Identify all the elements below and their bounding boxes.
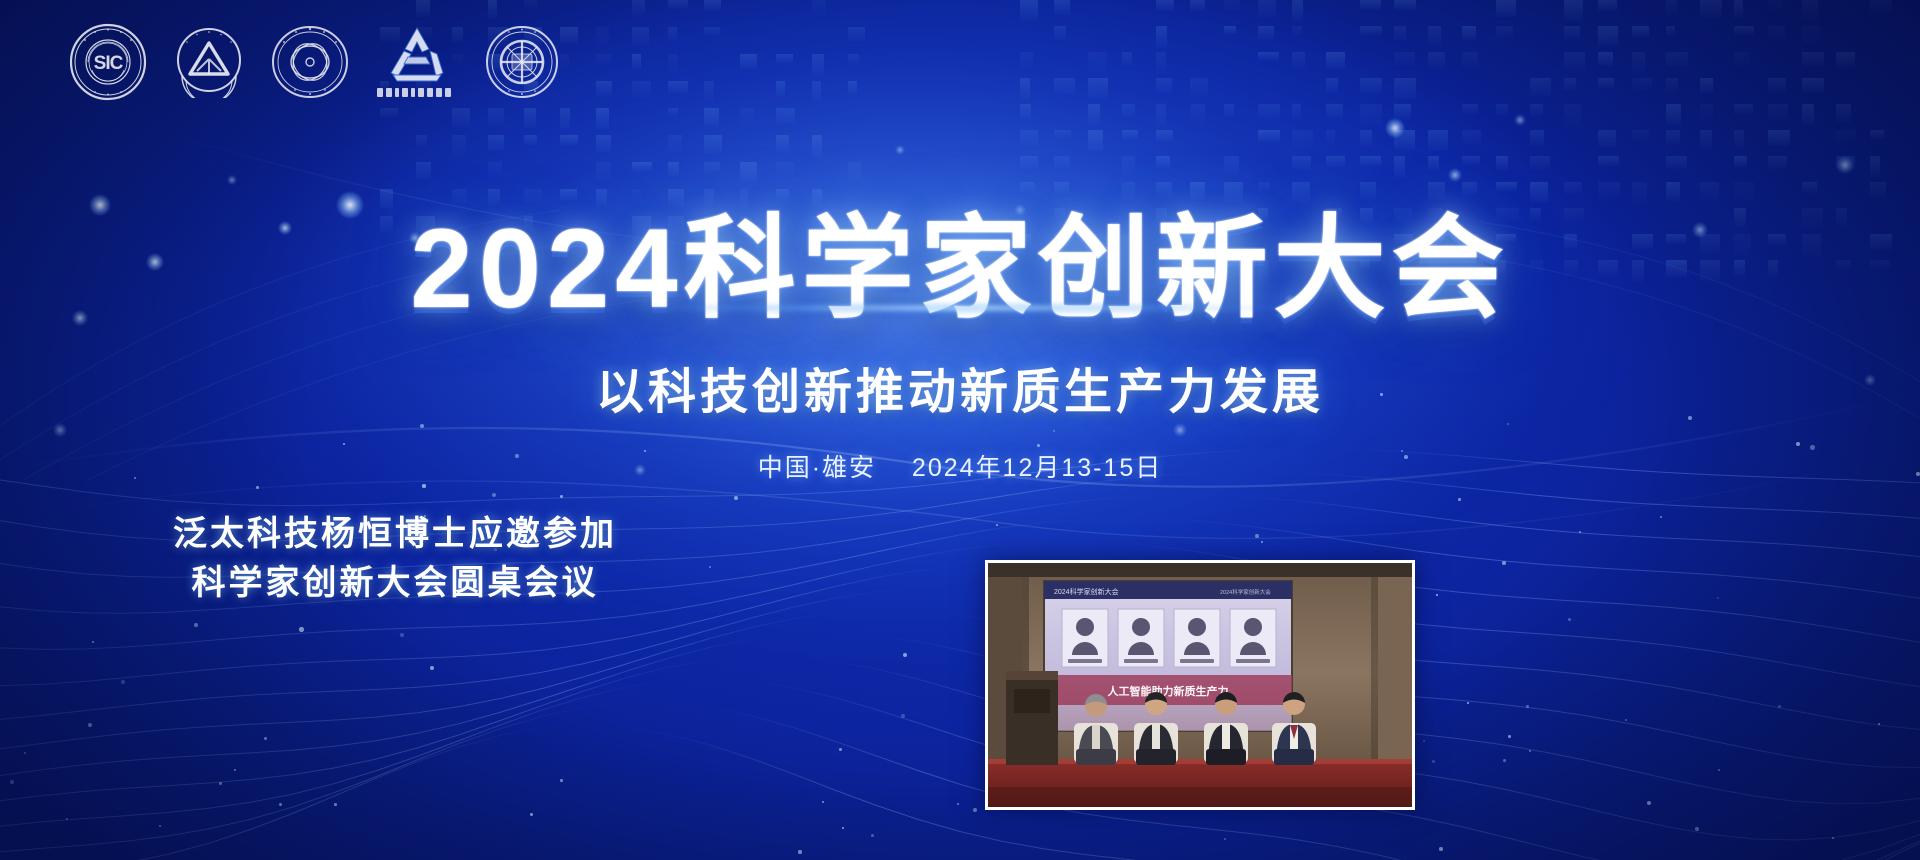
svg-text:2024科学家创新大会: 2024科学家创新大会	[1220, 588, 1271, 596]
page-title: 2024科学家创新大会	[0, 212, 1920, 326]
svg-text:SIC: SIC	[94, 53, 124, 74]
event-date-range: 2024年12月13-15日	[912, 454, 1162, 482]
globe-seal-logo	[484, 24, 560, 100]
event-dateline: 中国·雄安 2024年12月13-15日	[0, 448, 1920, 484]
penrose-logo-wordmark	[375, 86, 459, 100]
page-subtitle: 以科技创新推动新质生产力发展	[0, 352, 1920, 422]
event-location: 中国·雄安	[758, 454, 876, 482]
triangle-seal-logo	[173, 26, 245, 98]
svg-text:2024科学家创新大会: 2024科学家创新大会	[1054, 587, 1119, 596]
caption-line-1: 泛太科技杨恒博士应邀参加	[0, 510, 790, 559]
penrose-triangle-logo	[375, 24, 459, 100]
event-caption: 泛太科技杨恒博士应邀参加 科学家创新大会圆桌会议	[0, 510, 790, 609]
sic-seal-logo: SIC	[68, 22, 148, 102]
atom-seal-logo	[270, 24, 350, 100]
partner-logo-row: SIC	[68, 22, 560, 102]
caption-line-2: 科学家创新大会圆桌会议	[0, 559, 790, 608]
svg-text:人工智能助力新质生产力: 人工智能助力新质生产力	[1108, 684, 1229, 698]
roundtable-panel-photo: 2024科学家创新大会 2024科学家创新大会 人	[985, 560, 1415, 810]
